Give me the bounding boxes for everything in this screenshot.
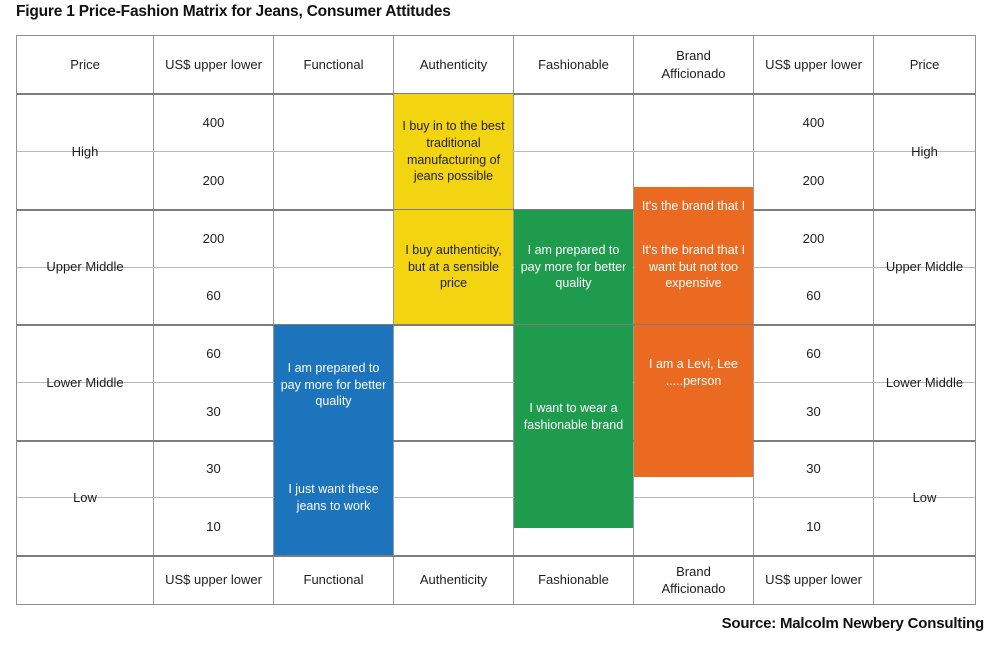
attitude-block-functional-low[interactable]: I just want these jeans to work bbox=[274, 441, 393, 555]
footer-brand-line1: Brand bbox=[676, 563, 711, 580]
usd-right-high-lower: 200 bbox=[754, 152, 873, 209]
usd-left-upper-middle-upper: 200 bbox=[154, 210, 273, 267]
footer-cell-blank-left bbox=[17, 556, 153, 604]
usd-right-upper-middle-lower: 60 bbox=[754, 268, 873, 324]
footer-cell-blank-right bbox=[874, 556, 975, 604]
figure-title: Figure 1 Price-Fashion Matrix for Jeans,… bbox=[16, 3, 451, 21]
attitude-block-brand-lower-middle[interactable]: I am a Levi, Lee .....person bbox=[634, 325, 753, 477]
usd-right-low-lower: 10 bbox=[754, 498, 873, 555]
footer-cell-usd-left: US$ upper lower bbox=[154, 556, 273, 604]
usd-left-high-lower: 200 bbox=[154, 152, 273, 209]
header-cell-brand-afficionado: Brand Afficionado bbox=[634, 36, 753, 93]
usd-left-low-upper: 30 bbox=[154, 441, 273, 497]
header-cell-price-left: Price bbox=[17, 36, 153, 93]
usd-right-low-upper: 30 bbox=[754, 441, 873, 497]
footer-cell-authenticity: Authenticity bbox=[394, 556, 513, 604]
band-label-left-upper-middle: Upper Middle bbox=[17, 210, 153, 324]
header-cell-authenticity: Authenticity bbox=[394, 36, 513, 93]
header-cell-price-right: Price bbox=[874, 36, 975, 93]
header-cell-usd-right: US$ upper lower bbox=[754, 36, 873, 93]
usd-left-lower-middle-lower: 30 bbox=[154, 383, 273, 440]
footer-brand-line2: Afficionado bbox=[661, 580, 725, 597]
band-label-right-low: Low bbox=[874, 441, 975, 555]
usd-left-high-upper: 400 bbox=[154, 94, 273, 151]
source-note: Source: Malcolm Newbery Consulting bbox=[722, 615, 984, 632]
band-label-right-high: High bbox=[874, 94, 975, 209]
footer-cell-brand-afficionado: Brand Afficionado bbox=[634, 556, 753, 604]
usd-right-upper-middle-upper: 200 bbox=[754, 210, 873, 267]
footer-cell-functional: Functional bbox=[274, 556, 393, 604]
header-cell-fashionable: Fashionable bbox=[514, 36, 633, 93]
attitude-block-fashionable-upper-middle[interactable]: I am prepared to pay more for better qua… bbox=[514, 210, 633, 324]
attitude-block-fashionable-lower-middle[interactable]: I want to wear a fashionable brand bbox=[514, 325, 633, 528]
price-fashion-matrix: Price US$ upper lower Functional Authent… bbox=[16, 35, 976, 605]
attitude-block-authenticity-high[interactable]: I buy in to the best traditional manufac… bbox=[394, 94, 513, 209]
usd-left-low-lower: 10 bbox=[154, 498, 273, 555]
band-label-right-lower-middle: Lower Middle bbox=[874, 325, 975, 440]
header-brand-line1: Brand bbox=[676, 47, 711, 64]
band-label-left-lower-middle: Lower Middle bbox=[17, 325, 153, 440]
footer-cell-fashionable: Fashionable bbox=[514, 556, 633, 604]
usd-left-lower-middle-upper: 60 bbox=[154, 325, 273, 382]
header-brand-line2: Afficionado bbox=[661, 65, 725, 82]
header-cell-functional: Functional bbox=[274, 36, 393, 93]
usd-right-high-upper: 400 bbox=[754, 94, 873, 151]
usd-right-lower-middle-lower: 30 bbox=[754, 383, 873, 440]
figure-page: Figure 1 Price-Fashion Matrix for Jeans,… bbox=[0, 0, 1000, 645]
footer-cell-usd-right: US$ upper lower bbox=[754, 556, 873, 604]
band-label-left-high: High bbox=[17, 94, 153, 209]
band-label-left-low: Low bbox=[17, 441, 153, 555]
header-cell-usd-left: US$ upper lower bbox=[154, 36, 273, 93]
usd-left-upper-middle-lower: 60 bbox=[154, 268, 273, 324]
attitude-block-brand-upper-middle[interactable]: It's the brand that I want but not too e… bbox=[634, 210, 753, 324]
usd-right-lower-middle-upper: 60 bbox=[754, 325, 873, 382]
attitude-block-authenticity-upper-middle[interactable]: I buy authenticity, but at a sensible pr… bbox=[394, 210, 513, 324]
band-label-right-upper-middle: Upper Middle bbox=[874, 210, 975, 324]
